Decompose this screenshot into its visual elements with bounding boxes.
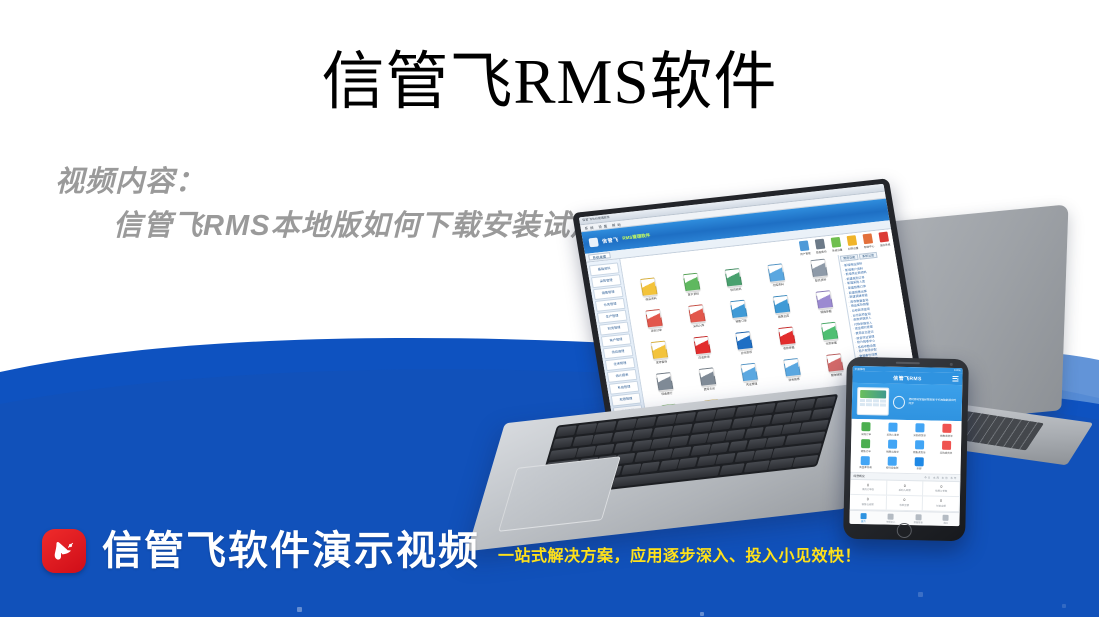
app-grid-label: 采购入库 bbox=[681, 322, 717, 330]
video-content-label: 视频内容： bbox=[55, 162, 815, 202]
phone-grid-icon bbox=[915, 440, 924, 449]
app-grid-icon bbox=[767, 263, 785, 282]
app-grid-item-16[interactable]: 费用支出 bbox=[688, 366, 727, 393]
app-grid-icon bbox=[730, 300, 748, 319]
brand-tagline: 一站式解决方案，应用逐步深入、投入小见效快！ bbox=[498, 546, 861, 570]
app-grid-item-12[interactable]: 应付款项 bbox=[725, 330, 764, 357]
app-grid-item-5[interactable]: 采购订单 bbox=[635, 308, 674, 335]
app-grid-label: 调拨单据 bbox=[808, 308, 844, 316]
toolbar-button-5[interactable]: 退出系统 bbox=[877, 231, 890, 247]
app-grid-icon bbox=[640, 277, 658, 296]
phone-stat-5: 0付款金额 bbox=[923, 496, 960, 511]
toolbar-button-4[interactable]: 帮助中心 bbox=[862, 233, 875, 249]
toolbar-label: 权限设置 bbox=[847, 245, 859, 250]
phone-grid-item-10[interactable]: 全部 bbox=[906, 457, 932, 471]
phone-stat-0: 0采购订单数 bbox=[850, 480, 887, 495]
phone-grid-icon bbox=[888, 439, 897, 448]
app-grid-icon bbox=[698, 367, 716, 386]
app-grid-item-0[interactable]: 商品资料 bbox=[630, 276, 669, 303]
app-grid-icon bbox=[773, 295, 791, 314]
app-grid-icon bbox=[693, 336, 711, 355]
app-header-brand: 信管飞 bbox=[601, 236, 619, 245]
app-grid-label: 现金银行 bbox=[649, 390, 685, 398]
phone-battery: 100% bbox=[954, 369, 961, 372]
logo-bird-glyph bbox=[49, 536, 79, 566]
phone-stat-label: 销售出库额 bbox=[850, 502, 886, 507]
phone-app-header: 信管飞RMS bbox=[852, 371, 962, 385]
app-grid-label: 应付款项 bbox=[728, 349, 764, 357]
app-grid-item-11[interactable]: 应收款项 bbox=[683, 335, 722, 362]
phone-icon-grid[interactable]: 采购订单采购入库单采购退货单销售退货单销售订单销售出库单销售退货单采购退货单商品… bbox=[850, 419, 961, 476]
phone-grid-item-1[interactable]: 采购入库单 bbox=[880, 422, 906, 436]
phone-section-filters[interactable]: 今日 本周 本月 本年 bbox=[924, 476, 957, 481]
app-grid-label: 应收款项 bbox=[686, 353, 722, 361]
phone-grid-item-9[interactable]: 银行现金账 bbox=[879, 456, 905, 470]
phone-grid-label: 银行现金账 bbox=[879, 466, 905, 471]
phone-stat-label: 销售订单数 bbox=[923, 489, 959, 494]
phone-grid-label: 采购订单 bbox=[853, 432, 879, 437]
app-grid-label: 销售订单 bbox=[723, 317, 759, 325]
app-grid-item-6[interactable]: 采购入库 bbox=[678, 303, 717, 330]
app-grid-icon bbox=[778, 326, 796, 345]
phone-grid-icon bbox=[915, 457, 924, 466]
phone-stat-1: 0采购入库额 bbox=[887, 481, 924, 496]
toolbar-label: 帮助中心 bbox=[863, 244, 875, 249]
phone-grid-item-2[interactable]: 采购退货单 bbox=[907, 423, 933, 437]
phone-stat-3: 0销售出库额 bbox=[850, 495, 887, 510]
toolbar-icon bbox=[799, 240, 810, 251]
toolbar-label: 退出系统 bbox=[879, 242, 891, 247]
app-grid-label: 仓库资料 bbox=[760, 281, 796, 289]
app-grid-label: 凭证管理 bbox=[734, 380, 770, 388]
app-grid-item-10[interactable]: 库存查询 bbox=[640, 339, 679, 366]
page-title: 信管飞RMS软件 bbox=[0, 46, 1099, 118]
app-grid-item-17[interactable]: 凭证管理 bbox=[731, 362, 770, 389]
toolbar-button-0[interactable]: 用户管理 bbox=[798, 240, 811, 256]
phone-grid-label: 销售订单 bbox=[853, 448, 879, 453]
decor-dot bbox=[700, 612, 704, 616]
toolbar-label: 用户管理 bbox=[800, 251, 812, 256]
phone-camera-icon bbox=[950, 362, 953, 365]
app-grid-icon bbox=[736, 331, 754, 350]
app-grid-icon bbox=[815, 290, 833, 309]
phoenix-bird-logo-icon bbox=[42, 529, 86, 573]
app-grid-label: 商品资料 bbox=[633, 295, 669, 303]
app-grid-label: 收款单据 bbox=[771, 344, 807, 352]
app-grid-label: 库存查询 bbox=[644, 358, 680, 366]
app-grid-icon bbox=[820, 322, 838, 341]
phone-grid-icon bbox=[888, 423, 897, 432]
phone-stat-4: 0收款金额 bbox=[886, 496, 923, 511]
phone-grid-item-7[interactable]: 采购退货单 bbox=[933, 440, 959, 454]
app-grid-item-13[interactable]: 收款单据 bbox=[768, 325, 807, 352]
phone-grid-item-8[interactable]: 商品库存表 bbox=[853, 455, 879, 469]
app-grid-item-1[interactable]: 客户资料 bbox=[672, 272, 711, 299]
app-grid-icon bbox=[810, 259, 828, 278]
phone-grid-label: 全部 bbox=[906, 466, 932, 471]
app-grid-icon bbox=[651, 340, 669, 359]
phone-grid-label: 采购退货单 bbox=[907, 433, 933, 438]
app-grid-item-7[interactable]: 销售订单 bbox=[720, 298, 759, 325]
toolbar-icon bbox=[847, 235, 858, 246]
phone-stat-label: 收款金额 bbox=[886, 503, 922, 508]
phone-grid-item-5[interactable]: 销售出库单 bbox=[880, 439, 906, 453]
phone-grid-icon bbox=[915, 423, 924, 432]
app-grid-label: 付款单据 bbox=[813, 339, 849, 347]
tab-desktop[interactable]: 系统桌面 bbox=[588, 252, 610, 260]
brand-banner: 信管飞软件演示视频 一站式解决方案，应用逐步深入、投入小见效快！ bbox=[0, 520, 1099, 582]
app-grid-item-3[interactable]: 仓库资料 bbox=[757, 262, 796, 289]
toolbar-button-3[interactable]: 权限设置 bbox=[846, 235, 859, 251]
app-grid-icon bbox=[783, 358, 801, 377]
app-grid-icon bbox=[741, 363, 759, 382]
decor-dot bbox=[297, 607, 302, 612]
app-grid-item-4[interactable]: 职员资料 bbox=[800, 257, 839, 284]
app-grid-item-8[interactable]: 销售出库 bbox=[762, 294, 801, 321]
app-grid-item-9[interactable]: 调拨单据 bbox=[805, 289, 844, 316]
app-grid-item-15[interactable]: 现金银行 bbox=[646, 371, 685, 398]
phone-grid-icon bbox=[942, 441, 951, 450]
phone-stats-grid: 0采购订单数0采购入库额0销售订单数0销售出库额0收款金额0付款金额 bbox=[850, 480, 961, 511]
toolbar-label: 数据备份 bbox=[815, 249, 827, 254]
documents-icon bbox=[888, 513, 894, 519]
phone-grid-label: 销售退货单 bbox=[933, 433, 959, 438]
slide-canvas: 信管飞RMS软件 视频内容： 信管飞RMS本地版如何下载安装试用？ 信管飞RMS… bbox=[0, 0, 1099, 617]
app-grid-icon bbox=[826, 353, 844, 372]
phone-grid-item-3[interactable]: 销售退货单 bbox=[933, 424, 959, 438]
toolbar-icon bbox=[831, 237, 842, 248]
app-grid-icon bbox=[683, 273, 701, 292]
app-grid-label: 费用支出 bbox=[691, 385, 727, 393]
phone-grid-item-4[interactable]: 销售订单 bbox=[853, 439, 879, 453]
banner-card-rows bbox=[859, 399, 886, 407]
app-grid-item-18[interactable]: 财务报表 bbox=[773, 357, 812, 384]
primary-laptop-base bbox=[480, 406, 900, 538]
phone-grid-item-0[interactable]: 采购订单 bbox=[853, 422, 879, 436]
phone-stat-label: 采购入库额 bbox=[887, 488, 923, 493]
app-header-sub: RMS管理软件 bbox=[622, 233, 651, 242]
phone-grid-item-6[interactable]: 销售退货单 bbox=[906, 440, 932, 454]
phone-display: 中国移动 100% 信管飞RMS 随时随地掌握经营数据 手机电脑数据实时同步 采… bbox=[849, 366, 962, 526]
phone-grid-label: 采购退货单 bbox=[933, 450, 959, 455]
sync-ring-icon bbox=[892, 395, 904, 408]
phone-section-title: 经营概况 bbox=[853, 474, 864, 478]
phone-grid-icon bbox=[862, 422, 871, 431]
app-grid-item-2[interactable]: 供应商料 bbox=[715, 267, 754, 294]
phone-stat-2: 0销售订单数 bbox=[923, 482, 960, 497]
toolbar-icon bbox=[878, 232, 889, 243]
phone-grid-icon bbox=[861, 456, 870, 465]
app-grid-icon bbox=[725, 268, 743, 287]
decor-dot bbox=[1062, 604, 1066, 608]
phone-app-title: 信管飞RMS bbox=[893, 374, 922, 382]
smartphone-mockup: 中国移动 100% 信管飞RMS 随时随地掌握经营数据 手机电脑数据实时同步 采… bbox=[843, 357, 969, 542]
phone-hero-banner: 随时随地掌握经营数据 手机电脑数据实时同步 bbox=[852, 383, 963, 421]
app-grid-icon bbox=[656, 372, 674, 391]
phone-grid-label: 采购入库单 bbox=[880, 432, 906, 437]
app-grid-item-14[interactable]: 付款单据 bbox=[810, 321, 849, 348]
phone-grid-icon bbox=[942, 424, 951, 433]
banner-card-bar bbox=[860, 390, 887, 399]
home-icon bbox=[860, 513, 866, 519]
decor-dot bbox=[918, 592, 923, 597]
app-grid-label: 供应商料 bbox=[718, 286, 754, 294]
chart-icon bbox=[915, 514, 921, 520]
app-grid-label: 财务报表 bbox=[776, 376, 812, 384]
toolbar-button-1[interactable]: 数据备份 bbox=[814, 239, 827, 255]
brand-name: 信管飞软件演示视频 bbox=[102, 529, 480, 573]
device-mockup-group: 信管飞RMS管理软件 系统 设置 帮助 信管飞 RMS管理软件 系统桌面 基础资… bbox=[460, 210, 1099, 540]
phone-grid-label: 商品库存表 bbox=[853, 465, 879, 470]
phone-grid-icon bbox=[861, 439, 870, 448]
phone-grid-label: 销售出库单 bbox=[880, 449, 906, 454]
hamburger-menu-icon[interactable] bbox=[952, 376, 958, 382]
phone-banner-card-icon bbox=[857, 387, 889, 416]
app-grid-icon bbox=[645, 309, 663, 328]
phone-speaker bbox=[896, 362, 920, 365]
phone-grid-label: 销售退货单 bbox=[906, 450, 932, 455]
app-grid-icon bbox=[688, 304, 706, 323]
app-logo-icon bbox=[588, 237, 598, 247]
toolbar-label: 系统设置 bbox=[831, 247, 843, 252]
app-grid-label: 客户资料 bbox=[675, 290, 711, 298]
phone-banner-text: 随时随地掌握经营数据 手机电脑数据实时同步 bbox=[909, 398, 957, 407]
toolbar-button-2[interactable]: 系统设置 bbox=[830, 237, 843, 253]
phone-grid-icon bbox=[888, 456, 897, 465]
toolbar-icon bbox=[863, 233, 874, 244]
app-grid-label: 销售出库 bbox=[766, 312, 802, 320]
phone-stat-label: 采购订单数 bbox=[850, 487, 886, 492]
phone-stat-label: 付款金额 bbox=[923, 503, 959, 508]
app-grid-label: 采购订单 bbox=[638, 326, 674, 334]
toolbar-icon bbox=[815, 239, 826, 250]
app-grid-label: 职员资料 bbox=[803, 276, 839, 284]
